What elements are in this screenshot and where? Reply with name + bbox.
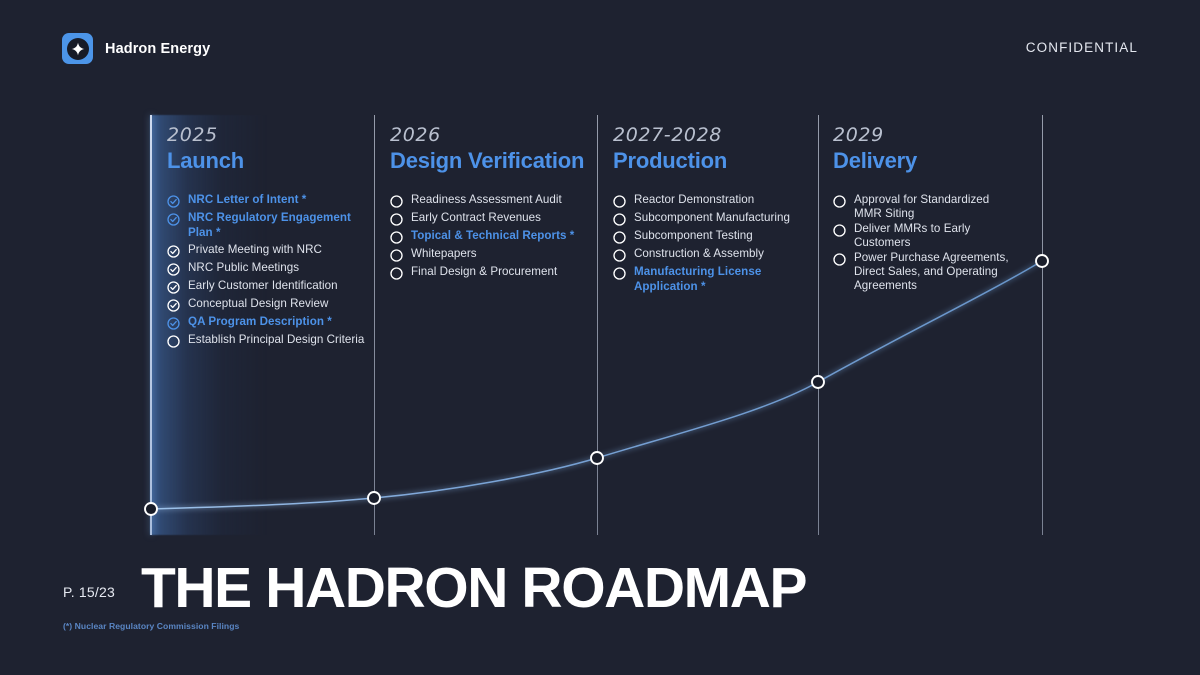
milestone-item[interactable]: Manufacturing License Application *	[613, 265, 825, 294]
milestone-label: Subcomponent Manufacturing	[634, 211, 790, 226]
empty-circle-icon	[833, 253, 846, 266]
column-title: Production	[613, 148, 825, 174]
empty-circle-icon	[833, 195, 846, 208]
milestone-label: Readiness Assessment Audit	[411, 193, 562, 208]
empty-circle-icon	[613, 267, 626, 280]
milestone-item[interactable]: Deliver MMRs to Early Customers	[833, 222, 1013, 250]
milestone-item[interactable]: Topical & Technical Reports *	[390, 229, 595, 244]
milestone-item[interactable]: Private Meeting with NRC	[167, 243, 367, 258]
brand-lockup: Hadron Energy	[62, 33, 210, 64]
milestone-label: Final Design & Procurement	[411, 265, 557, 280]
milestone-item[interactable]: Subcomponent Testing	[613, 229, 825, 244]
check-circle-icon	[167, 317, 180, 330]
milestone-label: Power Purchase Agreements, Direct Sales,…	[854, 251, 1013, 293]
milestone-label: Conceptual Design Review	[188, 297, 328, 312]
milestone-list: Readiness Assessment AuditEarly Contract…	[390, 193, 595, 280]
stage-divider-2026	[374, 115, 375, 535]
roadmap-column-2025: 2025 Launch NRC Letter of Intent *NRC Re…	[167, 124, 367, 351]
empty-circle-icon	[167, 335, 180, 348]
empty-circle-icon	[390, 231, 403, 244]
milestone-label: Private Meeting with NRC	[188, 243, 322, 258]
milestone-label: NRC Public Meetings	[188, 261, 299, 276]
milestone-item[interactable]: NRC Letter of Intent *	[167, 193, 367, 208]
column-year: 2027-2028	[613, 124, 825, 146]
milestone-item[interactable]: Early Customer Identification	[167, 279, 367, 294]
milestone-item[interactable]: Readiness Assessment Audit	[390, 193, 595, 208]
column-year: 2029	[833, 124, 1013, 146]
column-title: Delivery	[833, 148, 1013, 174]
empty-circle-icon	[390, 213, 403, 226]
milestone-label: Approval for Standardized MMR Siting	[854, 193, 1013, 221]
empty-circle-icon	[390, 195, 403, 208]
stage-divider-end	[1042, 115, 1043, 535]
milestone-item[interactable]: Approval for Standardized MMR Siting	[833, 193, 1013, 221]
check-circle-icon	[167, 195, 180, 208]
confidential-label: CONFIDENTIAL	[1026, 40, 1138, 55]
milestone-label: QA Program Description *	[188, 315, 332, 330]
slide-header: Hadron Energy CONFIDENTIAL	[0, 0, 1200, 96]
milestone-label: NRC Letter of Intent *	[188, 193, 306, 208]
stage-divider-2027	[597, 115, 598, 535]
milestone-item[interactable]: Final Design & Procurement	[390, 265, 595, 280]
page-title: THE HADRON ROADMAP	[141, 555, 806, 621]
milestone-item[interactable]: Establish Principal Design Criteria	[167, 333, 367, 348]
milestone-item[interactable]: Power Purchase Agreements, Direct Sales,…	[833, 251, 1013, 293]
check-circle-icon	[167, 213, 180, 226]
slide-footer: P. 15/23 THE HADRON ROADMAP (*) Nuclear …	[0, 555, 1200, 675]
milestone-label: Manufacturing License Application *	[634, 265, 825, 294]
milestone-item[interactable]: QA Program Description *	[167, 315, 367, 330]
milestone-label: Topical & Technical Reports *	[411, 229, 574, 244]
milestone-item[interactable]: NRC Public Meetings	[167, 261, 367, 276]
stage-divider-2025	[150, 115, 152, 535]
milestone-list: Approval for Standardized MMR SitingDeli…	[833, 193, 1013, 293]
footnote-text: (*) Nuclear Regulatory Commission Filing…	[63, 621, 239, 631]
roadmap-column-2029: 2029 Delivery Approval for Standardized …	[833, 124, 1013, 294]
milestone-label: Construction & Assembly	[634, 247, 764, 262]
check-circle-icon	[167, 263, 180, 276]
milestone-item[interactable]: Whitepapers	[390, 247, 595, 262]
check-circle-icon	[167, 281, 180, 294]
milestone-label: Deliver MMRs to Early Customers	[854, 222, 1013, 250]
logo-mark	[62, 33, 93, 64]
milestone-item[interactable]: Early Contract Revenues	[390, 211, 595, 226]
milestone-label: Subcomponent Testing	[634, 229, 753, 244]
milestone-label: Reactor Demonstration	[634, 193, 754, 208]
check-circle-icon	[167, 245, 180, 258]
empty-circle-icon	[613, 249, 626, 262]
roadmap-column-2026: 2026 Design Verification Readiness Asses…	[390, 124, 595, 283]
milestone-item[interactable]: Subcomponent Manufacturing	[613, 211, 825, 226]
roadmap-column-2027-2028: 2027-2028 Production Reactor Demonstrati…	[613, 124, 825, 297]
page-number: P. 15/23	[63, 584, 115, 600]
column-year: 2026	[390, 124, 595, 146]
milestone-label: Whitepapers	[411, 247, 477, 262]
brand-name: Hadron Energy	[105, 41, 210, 57]
column-title: Design Verification	[390, 148, 595, 174]
star-burst-icon	[67, 38, 89, 60]
column-title: Launch	[167, 148, 367, 174]
milestone-label: NRC Regulatory Engagement Plan *	[188, 211, 367, 240]
empty-circle-icon	[833, 224, 846, 237]
empty-circle-icon	[390, 267, 403, 280]
milestone-list: Reactor DemonstrationSubcomponent Manufa…	[613, 193, 825, 294]
milestone-item[interactable]: Reactor Demonstration	[613, 193, 825, 208]
milestone-item[interactable]: NRC Regulatory Engagement Plan *	[167, 211, 367, 240]
milestone-label: Establish Principal Design Criteria	[188, 333, 364, 348]
check-circle-icon	[167, 299, 180, 312]
roadmap-stage: 2025 Launch NRC Letter of Intent *NRC Re…	[0, 96, 1200, 546]
empty-circle-icon	[390, 249, 403, 262]
milestone-label: Early Customer Identification	[188, 279, 338, 294]
milestone-item[interactable]: Conceptual Design Review	[167, 297, 367, 312]
milestone-label: Early Contract Revenues	[411, 211, 541, 226]
empty-circle-icon	[613, 231, 626, 244]
milestone-item[interactable]: Construction & Assembly	[613, 247, 825, 262]
empty-circle-icon	[613, 195, 626, 208]
empty-circle-icon	[613, 213, 626, 226]
milestone-list: NRC Letter of Intent *NRC Regulatory Eng…	[167, 193, 367, 348]
column-year: 2025	[167, 124, 367, 146]
